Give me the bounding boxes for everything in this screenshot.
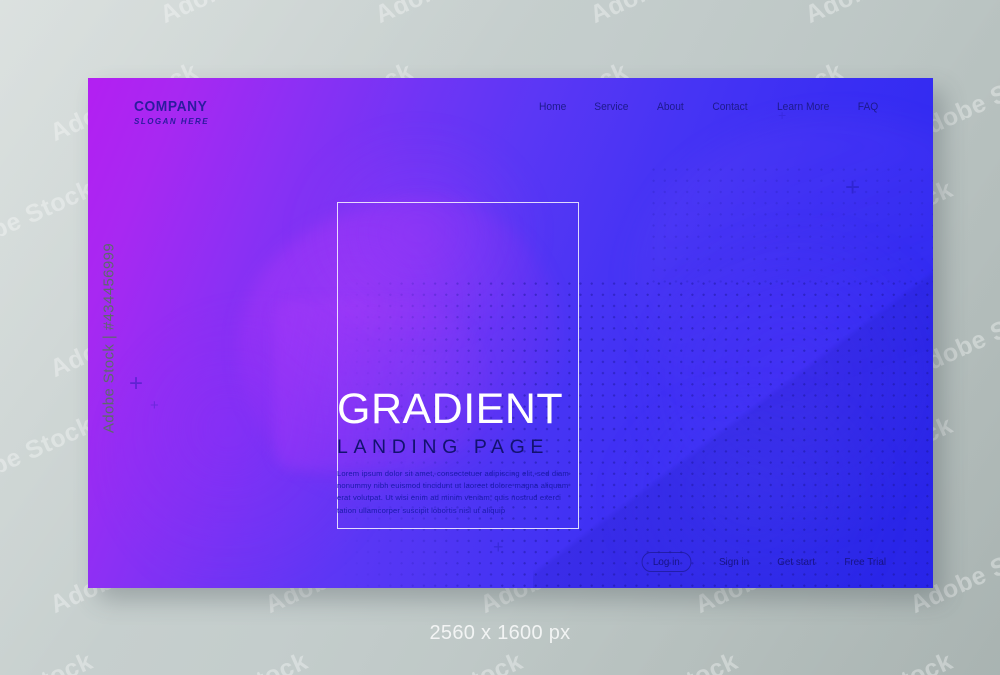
get-start-button[interactable]: Get start bbox=[778, 556, 816, 568]
hero-body-text: Lorem ipsum dolor sit amet, consectetuer… bbox=[337, 468, 569, 517]
hero-subtitle: LANDING PAGE bbox=[337, 436, 585, 459]
hero-title: GRADIENT bbox=[337, 388, 585, 432]
nav-item-service[interactable]: Service bbox=[595, 101, 629, 113]
cta-actions: Log in Sign in Get start Free Trial bbox=[640, 552, 887, 572]
plus-icon: + bbox=[150, 398, 159, 413]
landing-page-banner: + + + + + COMPANY SLOGAN HERE Home Servi… bbox=[88, 78, 933, 588]
main-navigation: Home Service About Contact Learn More FA… bbox=[538, 101, 879, 113]
nav-item-about[interactable]: About bbox=[657, 101, 684, 113]
nav-item-home[interactable]: Home bbox=[539, 101, 566, 113]
plus-icon: + bbox=[845, 174, 860, 200]
free-trial-button[interactable]: Free Trial bbox=[844, 556, 886, 568]
dimensions-caption: 2560 x 1600 px bbox=[0, 622, 1000, 645]
decor-dot-grid-top bbox=[648, 164, 933, 284]
hero-content: GRADIENT LANDING PAGE Lorem ipsum dolor … bbox=[337, 388, 585, 517]
nav-item-contact[interactable]: Contact bbox=[712, 101, 747, 113]
plus-icon: + bbox=[129, 372, 143, 396]
nav-item-faq[interactable]: FAQ bbox=[858, 101, 878, 113]
login-button[interactable]: Log in bbox=[641, 552, 690, 572]
banner-header: COMPANY SLOGAN HERE Home Service About C… bbox=[88, 78, 933, 138]
plus-icon: + bbox=[493, 538, 504, 556]
nav-item-learn-more[interactable]: Learn More bbox=[777, 101, 829, 113]
signin-button[interactable]: Sign in bbox=[719, 556, 749, 568]
company-logo[interactable]: COMPANY SLOGAN HERE bbox=[134, 98, 214, 126]
logo-slogan: SLOGAN HERE bbox=[134, 116, 209, 126]
stock-id-label: Adobe Stock | #434456999 bbox=[101, 242, 118, 432]
logo-company-name: COMPANY bbox=[134, 98, 208, 115]
